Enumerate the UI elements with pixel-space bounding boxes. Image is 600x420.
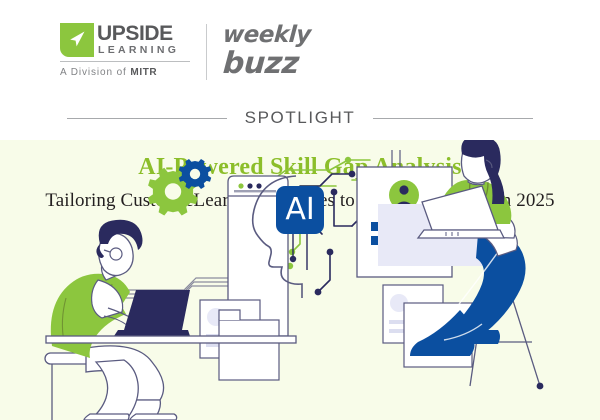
spotlight-rule-right bbox=[373, 118, 533, 119]
laptop-base bbox=[114, 330, 190, 336]
logo-row: UPSIDE LEARNING bbox=[60, 22, 190, 57]
logo-secondary-text: LEARNING bbox=[97, 44, 179, 57]
spotlight-label: SPOTLIGHT bbox=[227, 108, 374, 128]
logo-tagline-brand: MITR bbox=[130, 67, 157, 78]
window-dot-green bbox=[238, 183, 243, 188]
brand-vertical-divider bbox=[206, 24, 207, 80]
weekly-buzz-wordmark: weekly buzz bbox=[223, 22, 311, 80]
shoe-back-right bbox=[442, 330, 500, 344]
shoe-front-right bbox=[410, 342, 475, 356]
laptop-screen bbox=[124, 290, 190, 330]
logo-tagline: A Division of MITR bbox=[60, 66, 190, 80]
laptop-base-right bbox=[418, 230, 504, 238]
shoe-back bbox=[84, 414, 129, 420]
weekly-buzz-line1: weekly bbox=[222, 22, 311, 48]
spotlight-rule-left bbox=[67, 118, 227, 119]
desk-top bbox=[46, 336, 296, 343]
ai-badge-label: AI bbox=[285, 192, 314, 227]
logo-primary-text: UPSIDE bbox=[97, 23, 179, 44]
upside-learning-logo[interactable]: UPSIDE LEARNING A Division of MITR bbox=[60, 22, 190, 80]
brand-lockup: UPSIDE LEARNING A Division of MITR weekl… bbox=[60, 22, 311, 80]
header: UPSIDE LEARNING A Division of MITR weekl… bbox=[0, 0, 600, 140]
stool-foot-dot bbox=[537, 383, 544, 390]
ai-badge: AI bbox=[276, 186, 324, 234]
weekly-buzz-line2: buzz bbox=[222, 48, 312, 80]
window-dot-navy-1 bbox=[247, 183, 252, 188]
newsletter-poster: UPSIDE LEARNING A Division of MITR weekl… bbox=[0, 0, 600, 420]
shoe-front bbox=[130, 414, 177, 420]
spotlight-panel: AI-Powered Skill Gap Analysis Tailoring … bbox=[0, 140, 600, 420]
spotlight-illustration: AI bbox=[0, 140, 600, 420]
spotlight-divider: SPOTLIGHT bbox=[0, 104, 600, 132]
logo-divider-rule bbox=[60, 61, 190, 62]
logo-tagline-prefix: A Division of bbox=[60, 67, 130, 78]
logo-wordmark: UPSIDE LEARNING bbox=[97, 22, 179, 57]
upside-arrow-icon bbox=[60, 23, 94, 57]
window-dot-navy-2 bbox=[256, 183, 261, 188]
